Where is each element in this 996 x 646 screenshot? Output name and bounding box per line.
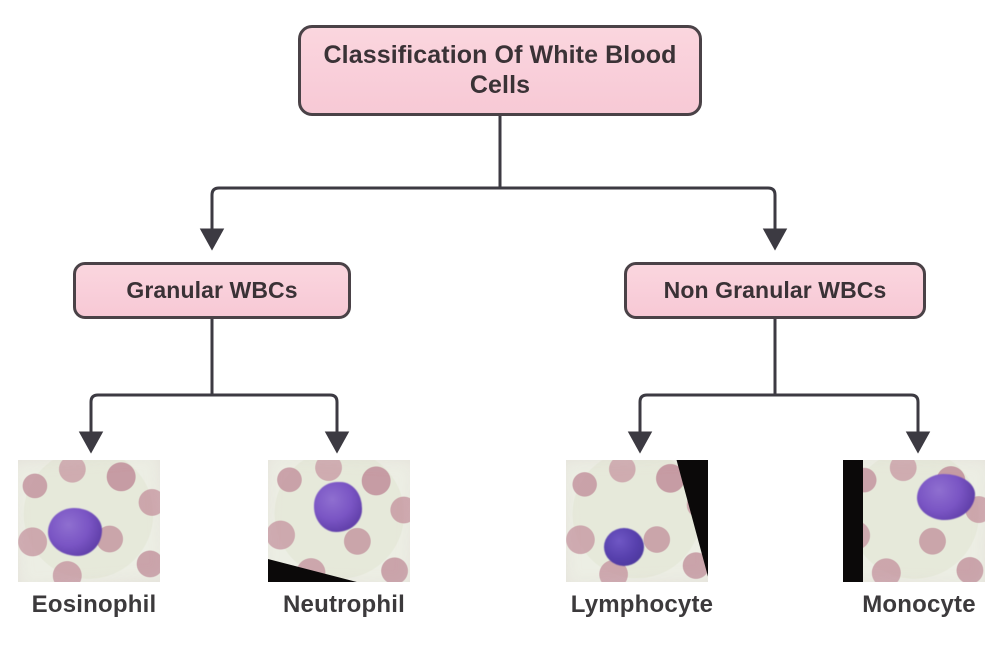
edge-nongranular-to-monocyte: [775, 395, 918, 441]
leaf-eosinophil: Eosinophil: [18, 460, 170, 619]
leaf-neutrophil: Neutrophil: [268, 460, 420, 619]
eosinophil-label: Eosinophil: [18, 591, 170, 619]
monocyte-micrograph-image: [843, 460, 985, 582]
monocyte-label: Monocyte: [843, 591, 995, 619]
node-granular-wbcs: Granular WBCs: [73, 262, 351, 319]
edge-nongranular-to-lymphocyte: [640, 395, 775, 441]
edge-root-to-granular: [212, 188, 500, 238]
edge-granular-to-neutrophil: [212, 395, 337, 441]
edge-root-to-nongranular: [500, 188, 775, 238]
black-corner-wedge: [843, 460, 863, 582]
root-node-label: Classification Of White Blood Cells: [301, 41, 699, 100]
edge-granular-to-eosinophil: [91, 395, 212, 441]
lymphocyte-micrograph-image: [566, 460, 708, 582]
neutrophil-nucleus: [314, 482, 362, 532]
eosinophil-nucleus: [48, 508, 102, 556]
lymphocyte-label: Lymphocyte: [566, 591, 718, 619]
root-node-classification-of-white-blood-cells: Classification Of White Blood Cells: [298, 25, 702, 116]
lymphocyte-nucleus: [604, 528, 644, 566]
neutrophil-label: Neutrophil: [268, 591, 420, 619]
neutrophil-micrograph-image: [268, 460, 410, 582]
eosinophil-micrograph-image: [18, 460, 160, 582]
node-granular-wbcs-label: Granular WBCs: [126, 277, 297, 304]
wbc-classification-diagram: Classification Of White Blood Cells Gran…: [0, 0, 996, 646]
leaf-monocyte: Monocyte: [843, 460, 995, 619]
node-non-granular-wbcs: Non Granular WBCs: [624, 262, 926, 319]
leaf-lymphocyte: Lymphocyte: [566, 460, 718, 619]
node-non-granular-wbcs-label: Non Granular WBCs: [664, 277, 887, 304]
